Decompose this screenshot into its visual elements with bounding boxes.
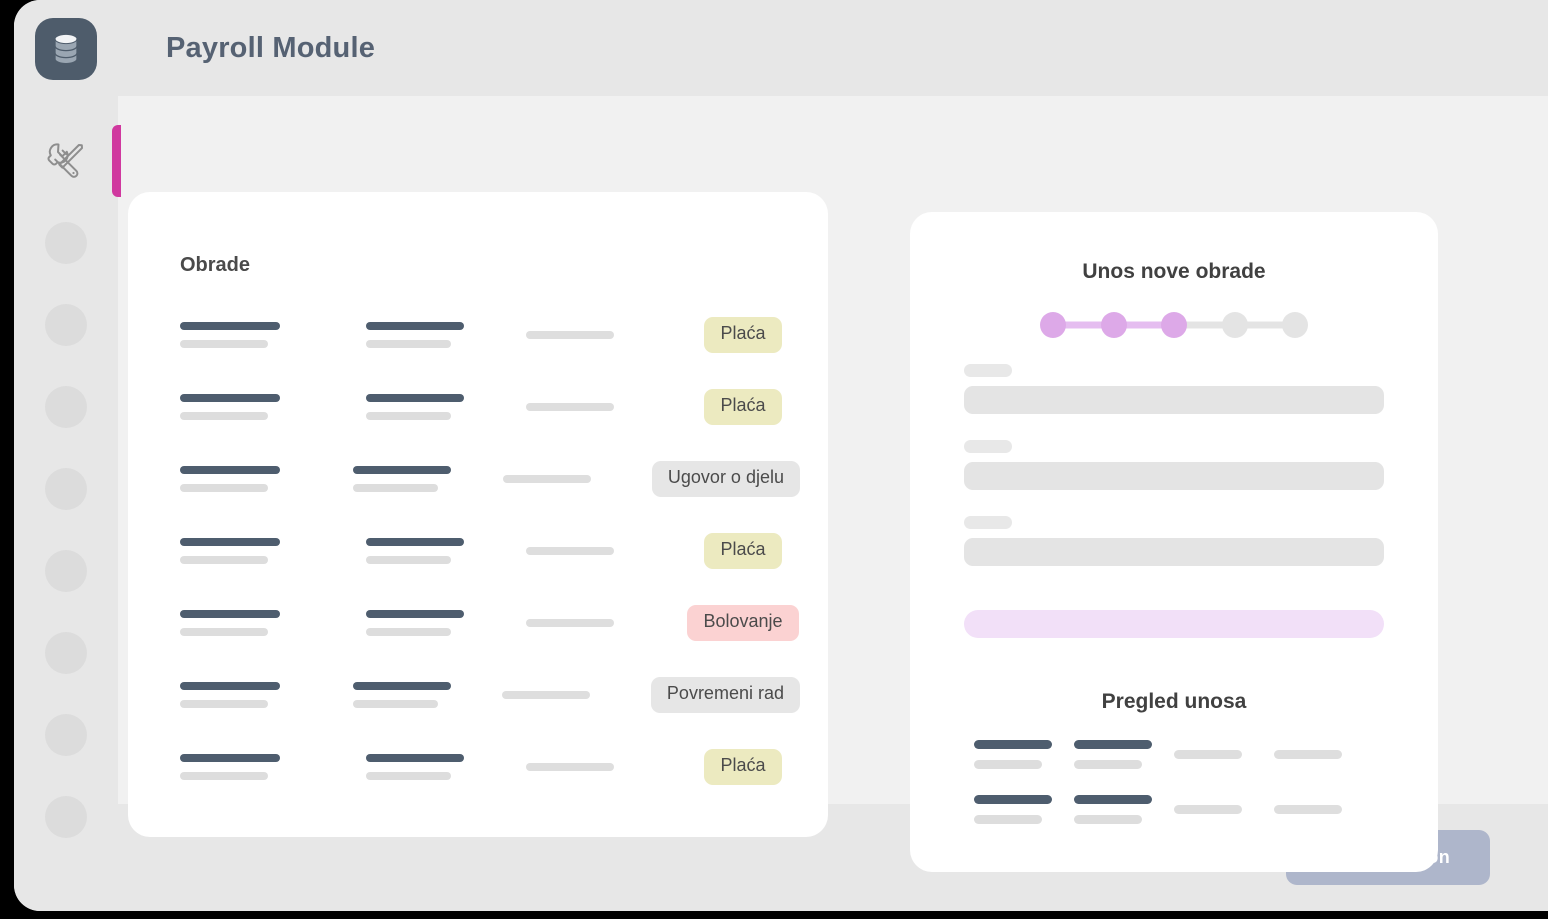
skeleton-bar-light xyxy=(180,628,268,636)
preview-col-2 xyxy=(1074,740,1174,769)
preview-col-1 xyxy=(974,740,1074,769)
preview-list xyxy=(964,740,1384,824)
top-bar: Payroll Module xyxy=(118,0,1548,96)
status-badge: Ugovor o djelu xyxy=(652,461,800,497)
skeleton-bar-light xyxy=(180,556,268,564)
row-col-tertiary xyxy=(503,475,652,483)
form-field-2 xyxy=(964,440,1384,490)
form-field-1 xyxy=(964,364,1384,414)
table-row[interactable]: Plaća xyxy=(128,515,828,587)
page-title: Payroll Module xyxy=(166,32,375,65)
row-col-secondary xyxy=(366,538,526,564)
status-badge: Plaća xyxy=(704,389,781,425)
row-col-tertiary xyxy=(526,763,686,771)
preview-col-3 xyxy=(1174,740,1274,759)
skeleton-bar-dark xyxy=(366,322,464,330)
row-col-secondary xyxy=(353,466,502,492)
sidebar-item-8[interactable] xyxy=(14,694,118,776)
sidebar-nav xyxy=(14,120,118,858)
skeleton-bar-dark xyxy=(180,754,280,762)
skeleton-bar-light xyxy=(974,760,1042,769)
table-row[interactable]: Plaća xyxy=(128,371,828,443)
skeleton-bar-light xyxy=(180,412,268,420)
row-col-badge: Ugovor o djelu xyxy=(652,461,800,497)
row-col-primary xyxy=(180,394,366,420)
preview-col-1 xyxy=(974,795,1074,824)
row-col-primary xyxy=(180,754,366,780)
stepper-step-3[interactable] xyxy=(1161,312,1187,338)
row-col-badge: Plaća xyxy=(686,749,800,785)
table-row[interactable]: Plaća xyxy=(128,731,828,803)
table-row[interactable]: Ugovor o djelu xyxy=(128,443,828,515)
skeleton-bar-light xyxy=(366,772,451,780)
skeleton-bar-dark xyxy=(180,682,280,690)
placeholder-dot-icon xyxy=(45,550,87,592)
app-window: Payroll Module Obrade Plaća xyxy=(14,0,1548,911)
skeleton-bar-light xyxy=(366,628,451,636)
skeleton-bar-light xyxy=(180,700,268,708)
row-col-primary xyxy=(180,322,366,348)
row-col-primary xyxy=(180,538,366,564)
row-col-badge: Plaća xyxy=(686,533,800,569)
pregled-unosa-title: Pregled unosa xyxy=(964,690,1384,714)
skeleton-bar-dark xyxy=(974,795,1052,804)
skeleton-bar-light xyxy=(974,815,1042,824)
row-col-primary xyxy=(180,466,353,492)
row-col-secondary xyxy=(366,394,526,420)
row-col-secondary xyxy=(353,682,502,708)
stepper-step-4[interactable] xyxy=(1222,312,1248,338)
placeholder-dot-icon xyxy=(45,632,87,674)
form-stepper xyxy=(1040,312,1308,338)
obrade-card: Obrade Plaća Plaća xyxy=(128,192,828,837)
preview-col-3 xyxy=(1174,795,1274,814)
sidebar-item-7[interactable] xyxy=(14,612,118,694)
row-col-secondary xyxy=(366,322,526,348)
skeleton-bar-light xyxy=(1174,805,1242,814)
row-col-tertiary xyxy=(526,619,686,627)
placeholder-dot-icon xyxy=(45,468,87,510)
skeleton-bar-dark xyxy=(180,610,280,618)
skeleton-bar-dark xyxy=(366,754,464,762)
placeholder-dot-icon xyxy=(45,796,87,838)
status-badge: Bolovanje xyxy=(687,605,798,641)
skeleton-bar-light xyxy=(353,484,438,492)
stepper-step-5[interactable] xyxy=(1282,312,1308,338)
skeleton-bar-light xyxy=(180,340,268,348)
field-input-2[interactable] xyxy=(964,462,1384,490)
placeholder-dot-icon xyxy=(45,304,87,346)
sidebar-item-6[interactable] xyxy=(14,530,118,612)
content-area: Obrade Plaća Plaća xyxy=(118,96,1548,804)
status-badge: Plaća xyxy=(704,317,781,353)
skeleton-bar-dark xyxy=(1074,795,1152,804)
skeleton-bar-light xyxy=(1274,805,1342,814)
table-row[interactable]: Bolovanje xyxy=(128,587,828,659)
skeleton-bar-light xyxy=(526,331,614,339)
status-badge: Plaća xyxy=(704,533,781,569)
row-col-primary xyxy=(180,610,366,636)
row-col-badge: Plaća xyxy=(686,317,800,353)
row-col-secondary xyxy=(366,610,526,636)
sidebar-item-tools[interactable] xyxy=(14,120,118,202)
field-input-3[interactable] xyxy=(964,538,1384,566)
field-input-1[interactable] xyxy=(964,386,1384,414)
skeleton-bar-dark xyxy=(180,322,280,330)
skeleton-bar-dark xyxy=(353,466,451,474)
skeleton-bar-light xyxy=(180,484,268,492)
row-col-tertiary xyxy=(526,547,686,555)
skeleton-bar-light xyxy=(366,340,451,348)
row-col-secondary xyxy=(366,754,526,780)
skeleton-bar-light xyxy=(526,403,614,411)
sidebar-item-3[interactable] xyxy=(14,284,118,366)
sidebar xyxy=(14,0,118,911)
unos-form-title: Unos nove obrade xyxy=(964,212,1384,284)
sidebar-item-9[interactable] xyxy=(14,776,118,858)
placeholder-dot-icon xyxy=(45,222,87,264)
skeleton-bar-dark xyxy=(974,740,1052,749)
obrade-card-title: Obrade xyxy=(128,192,828,277)
table-row[interactable]: Plaća xyxy=(128,299,828,371)
skeleton-bar-dark xyxy=(366,394,464,402)
skeleton-bar-light xyxy=(366,412,451,420)
placeholder-dot-icon xyxy=(45,714,87,756)
skeleton-bar-light xyxy=(526,547,614,555)
row-col-badge: Povremeni rad xyxy=(651,677,800,713)
row-col-primary xyxy=(180,682,353,708)
preview-row[interactable] xyxy=(974,795,1374,824)
skeleton-bar-light xyxy=(353,700,438,708)
field-label-placeholder xyxy=(964,516,1012,529)
skeleton-bar-dark xyxy=(180,538,280,546)
skeleton-bar-light xyxy=(180,772,268,780)
skeleton-bar-light xyxy=(1274,750,1342,759)
skeleton-bar-dark xyxy=(180,394,280,402)
tools-icon xyxy=(40,135,92,187)
preview-row[interactable] xyxy=(974,740,1374,769)
skeleton-bar-dark xyxy=(353,682,451,690)
preview-col-4 xyxy=(1274,795,1374,814)
row-col-tertiary xyxy=(502,691,651,699)
skeleton-bar-light xyxy=(502,691,590,699)
skeleton-bar-dark xyxy=(180,466,280,474)
skeleton-bar-light xyxy=(1174,750,1242,759)
sidebar-item-4[interactable] xyxy=(14,366,118,448)
skeleton-bar-light xyxy=(526,763,614,771)
row-col-badge: Plaća xyxy=(686,389,800,425)
main-area: Payroll Module Obrade Plaća xyxy=(118,0,1548,911)
table-row[interactable]: Povremeni rad xyxy=(128,659,828,731)
row-col-tertiary xyxy=(526,403,686,411)
database-icon xyxy=(52,33,80,65)
field-label-placeholder xyxy=(964,364,1012,377)
skeleton-bar-dark xyxy=(366,538,464,546)
skeleton-bar-dark xyxy=(366,610,464,618)
stepper-step-2[interactable] xyxy=(1101,312,1127,338)
skeleton-bar-light xyxy=(503,475,591,483)
status-badge: Povremeni rad xyxy=(651,677,800,713)
skeleton-bar-dark xyxy=(1074,740,1152,749)
skeleton-bar-light xyxy=(366,556,451,564)
form-field-3 xyxy=(964,516,1384,566)
skeleton-bar-light xyxy=(1074,760,1142,769)
unos-card: Unos nove obrade xyxy=(910,212,1438,872)
stepper-step-1[interactable] xyxy=(1040,312,1066,338)
status-badge: Plaća xyxy=(704,749,781,785)
preview-col-4 xyxy=(1274,740,1374,759)
row-col-tertiary xyxy=(526,331,686,339)
obrade-list: Plaća Plaća Ugovor o djelu xyxy=(128,277,828,803)
form-submit-button[interactable] xyxy=(964,610,1384,638)
app-logo[interactable] xyxy=(35,18,97,80)
sidebar-item-2[interactable] xyxy=(14,202,118,284)
sidebar-item-5[interactable] xyxy=(14,448,118,530)
skeleton-bar-light xyxy=(1074,815,1142,824)
placeholder-dot-icon xyxy=(45,386,87,428)
preview-col-2 xyxy=(1074,795,1174,824)
row-col-badge: Bolovanje xyxy=(686,605,800,641)
field-label-placeholder xyxy=(964,440,1012,453)
skeleton-bar-light xyxy=(526,619,614,627)
